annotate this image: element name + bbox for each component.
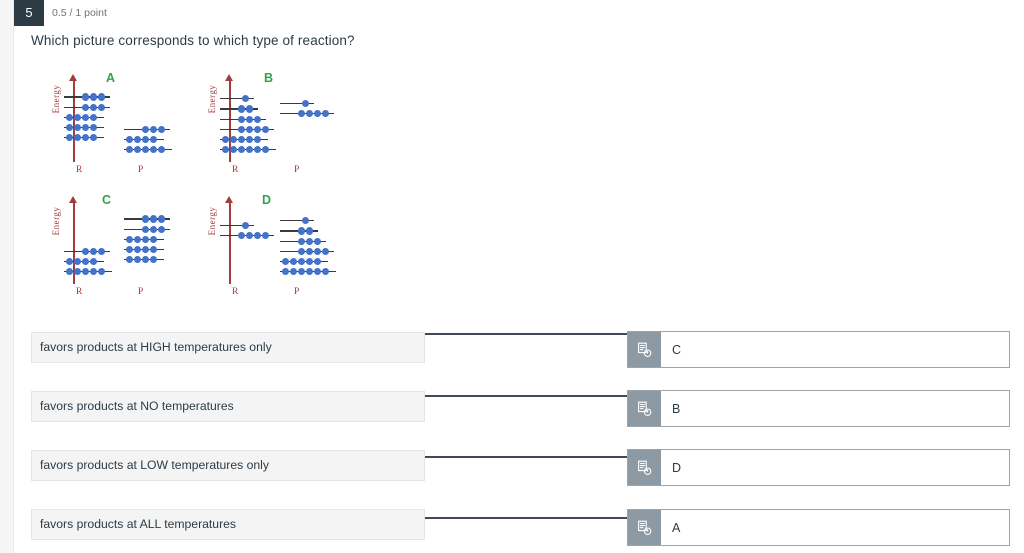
energy-axis-label: Energy (51, 193, 61, 249)
particle-dot (126, 236, 133, 243)
particle-dot (74, 114, 81, 121)
particle-dot (142, 256, 149, 263)
axis-shaft (229, 200, 231, 284)
particle-dot (230, 136, 237, 143)
matching-area: favors products at HIGH temperatures onl… (14, 315, 1024, 553)
particle-dot (82, 248, 89, 255)
particle-dot (306, 268, 313, 275)
particle-dot (126, 246, 133, 253)
particle-dot (98, 93, 105, 100)
question-points: 0.5 / 1 point (52, 0, 107, 26)
particle-dot (246, 136, 253, 143)
question-number-badge: 5 (14, 0, 44, 26)
particle-dot (142, 246, 149, 253)
energy-level-reactant (64, 258, 104, 266)
particle-dot (298, 227, 305, 234)
diagram-label-b: B (264, 71, 273, 85)
energy-level-product (280, 237, 326, 245)
energy-level-product (280, 247, 334, 255)
particle-dot (150, 136, 157, 143)
energy-level-product (124, 235, 164, 243)
energy-diagram-a: AEnergyRP (44, 64, 199, 182)
energy-level-product (280, 227, 318, 235)
particle-dot (142, 215, 149, 222)
particle-dot (246, 116, 253, 123)
energy-level-reactant (220, 105, 258, 113)
reactant-axis-label: R (232, 165, 238, 175)
particle-dot (150, 215, 157, 222)
match-connector-line (425, 333, 628, 335)
particle-dot (262, 232, 269, 239)
product-axis-label: P (294, 287, 299, 297)
particle-dot (314, 238, 321, 245)
particle-dot (98, 268, 105, 275)
particle-dot (254, 232, 261, 239)
particle-dot (230, 146, 237, 153)
particle-dot (298, 248, 305, 255)
particle-dot (254, 126, 261, 133)
match-connector-line (425, 456, 628, 458)
match-answer-label-1: C (661, 332, 1009, 367)
particle-dot (134, 256, 141, 263)
energy-level-reactant (220, 232, 274, 240)
particle-dot (90, 258, 97, 265)
particle-dot (66, 114, 73, 121)
particle-dot (238, 146, 245, 153)
particle-dot (290, 268, 297, 275)
particle-dot (246, 232, 253, 239)
drag-document-icon[interactable] (628, 332, 661, 367)
particle-dot (246, 126, 253, 133)
reactant-axis-label: R (76, 165, 82, 175)
particle-dot (158, 126, 165, 133)
energy-level-reactant (220, 115, 266, 123)
particle-dot (90, 104, 97, 111)
energy-level-product (124, 136, 164, 144)
matching-row: favors products at ALL temperaturesA (14, 509, 1024, 553)
energy-level-product (280, 110, 334, 118)
particle-dot (302, 100, 309, 107)
particle-dot (306, 258, 313, 265)
particle-dot (90, 248, 97, 255)
particle-dot (242, 222, 249, 229)
energy-level-reactant (64, 93, 110, 101)
energy-axis-label: Energy (207, 193, 217, 249)
product-axis-label: P (138, 165, 143, 175)
particle-dot (142, 126, 149, 133)
question-page: 5 0.5 / 1 point Which picture correspond… (0, 0, 1024, 553)
match-answer-4[interactable]: A (627, 509, 1010, 546)
energy-diagram-b: BEnergyRP (200, 64, 355, 182)
energy-level-reactant (64, 113, 104, 121)
product-axis-label: P (138, 287, 143, 297)
drag-document-icon[interactable] (628, 510, 661, 545)
energy-level-reactant (220, 95, 254, 103)
particle-dot (322, 248, 329, 255)
diagram-label-d: D (262, 193, 271, 207)
particle-dot (150, 236, 157, 243)
energy-diagram-c: CEnergyRP (44, 186, 199, 304)
particle-dot (66, 258, 73, 265)
particle-dot (74, 258, 81, 265)
particle-dot (90, 268, 97, 275)
match-answer-3[interactable]: D (627, 449, 1010, 486)
particle-dot (238, 232, 245, 239)
energy-diagram-figure: AEnergyRPBEnergyRPCEnergyRPDEnergyRP (30, 58, 360, 308)
particle-dot (98, 248, 105, 255)
diagram-label-a: A (106, 71, 115, 85)
particle-dot (142, 226, 149, 233)
energy-axis-arrow (225, 196, 235, 284)
page-body: 5 0.5 / 1 point Which picture correspond… (14, 0, 1024, 553)
particle-dot (306, 248, 313, 255)
particle-dot (150, 256, 157, 263)
particle-dot (134, 146, 141, 153)
particle-dot (74, 268, 81, 275)
particle-dot (134, 236, 141, 243)
energy-level-reactant (64, 247, 110, 255)
particle-dot (298, 258, 305, 265)
particle-dot (298, 238, 305, 245)
energy-level-reactant (64, 268, 112, 276)
energy-level-product (280, 268, 336, 276)
match-connector-line (425, 517, 628, 519)
matching-row: favors products at NO temperaturesB (14, 391, 1024, 437)
energy-level-product (124, 246, 164, 254)
particle-dot (262, 126, 269, 133)
energy-level-product (124, 146, 172, 154)
particle-dot (322, 268, 329, 275)
particle-dot (298, 110, 305, 117)
particle-dot (238, 105, 245, 112)
particle-dot (282, 268, 289, 275)
particle-dot (82, 93, 89, 100)
particle-dot (238, 126, 245, 133)
particle-dot (158, 146, 165, 153)
particle-dot (150, 126, 157, 133)
energy-level-reactant (64, 124, 104, 132)
particle-dot (82, 114, 89, 121)
match-prompt-3[interactable]: favors products at LOW temperatures only (31, 450, 425, 481)
match-answer-label-4: A (661, 510, 1009, 545)
particle-dot (82, 134, 89, 141)
particle-dot (66, 268, 73, 275)
match-prompt-1[interactable]: favors products at HIGH temperatures onl… (31, 332, 425, 363)
particle-dot (142, 236, 149, 243)
match-answer-label-3: D (661, 450, 1009, 485)
particle-dot (150, 226, 157, 233)
match-connector-line (425, 395, 628, 397)
particle-dot (246, 105, 253, 112)
question-header: 5 0.5 / 1 point (14, 0, 1024, 26)
particle-dot (306, 238, 313, 245)
particle-dot (82, 268, 89, 275)
particle-dot (314, 248, 321, 255)
particle-dot (314, 268, 321, 275)
particle-dot (74, 134, 81, 141)
particle-dot (242, 95, 249, 102)
particle-dot (306, 227, 313, 234)
particle-dot (314, 110, 321, 117)
energy-axis-label: Energy (51, 71, 61, 127)
energy-level-reactant (220, 136, 268, 144)
match-prompt-4[interactable]: favors products at ALL temperatures (31, 509, 425, 540)
particle-dot (222, 136, 229, 143)
particle-dot (90, 124, 97, 131)
matching-row: favors products at HIGH temperatures onl… (14, 332, 1024, 378)
particle-dot (134, 246, 141, 253)
particle-dot (150, 246, 157, 253)
energy-level-reactant (64, 134, 104, 142)
particle-dot (82, 104, 89, 111)
particle-dot (126, 136, 133, 143)
particle-dot (158, 215, 165, 222)
energy-axis-label: Energy (207, 71, 217, 127)
match-answer-1[interactable]: C (627, 331, 1010, 368)
energy-level-reactant (220, 125, 274, 133)
product-axis-label: P (294, 165, 299, 175)
diagram-label-c: C (102, 193, 111, 207)
particle-dot (306, 110, 313, 117)
energy-level-product (280, 258, 328, 266)
energy-level-product (280, 100, 314, 108)
particle-dot (90, 134, 97, 141)
energy-level-reactant (220, 222, 254, 230)
particle-dot (254, 136, 261, 143)
particle-dot (126, 256, 133, 263)
match-answer-2[interactable]: B (627, 390, 1010, 427)
matching-row: favors products at LOW temperatures only… (14, 450, 1024, 496)
energy-level-product (124, 256, 164, 264)
particle-dot (66, 124, 73, 131)
particle-dot (90, 114, 97, 121)
energy-level-product (280, 217, 314, 225)
particle-dot (314, 258, 321, 265)
particle-dot (290, 258, 297, 265)
particle-dot (142, 146, 149, 153)
particle-dot (246, 146, 253, 153)
energy-level-product (124, 225, 170, 233)
particle-dot (150, 146, 157, 153)
match-answer-label-2: B (661, 391, 1009, 426)
particle-dot (82, 124, 89, 131)
particle-dot (142, 136, 149, 143)
particle-dot (262, 146, 269, 153)
page-left-rail (0, 0, 14, 553)
particle-dot (254, 116, 261, 123)
particle-dot (302, 217, 309, 224)
particle-dot (238, 136, 245, 143)
particle-dot (126, 146, 133, 153)
particle-dot (322, 110, 329, 117)
energy-level-product (124, 125, 170, 133)
particle-dot (90, 93, 97, 100)
particle-dot (222, 146, 229, 153)
drag-document-icon[interactable] (628, 450, 661, 485)
particle-dot (158, 226, 165, 233)
energy-level-reactant (220, 146, 276, 154)
energy-level-reactant (64, 103, 110, 111)
particle-dot (238, 116, 245, 123)
energy-diagram-d: DEnergyRP (200, 186, 355, 304)
match-prompt-2[interactable]: favors products at NO temperatures (31, 391, 425, 422)
particle-dot (298, 268, 305, 275)
particle-dot (254, 146, 261, 153)
reactant-axis-label: R (76, 287, 82, 297)
particle-dot (82, 258, 89, 265)
particle-dot (282, 258, 289, 265)
particle-dot (134, 136, 141, 143)
particle-dot (98, 104, 105, 111)
question-prompt-text: Which picture corresponds to which type … (31, 33, 355, 48)
particle-dot (66, 134, 73, 141)
drag-document-icon[interactable] (628, 391, 661, 426)
reactant-axis-label: R (232, 287, 238, 297)
particle-dot (74, 124, 81, 131)
energy-level-product (124, 215, 170, 223)
